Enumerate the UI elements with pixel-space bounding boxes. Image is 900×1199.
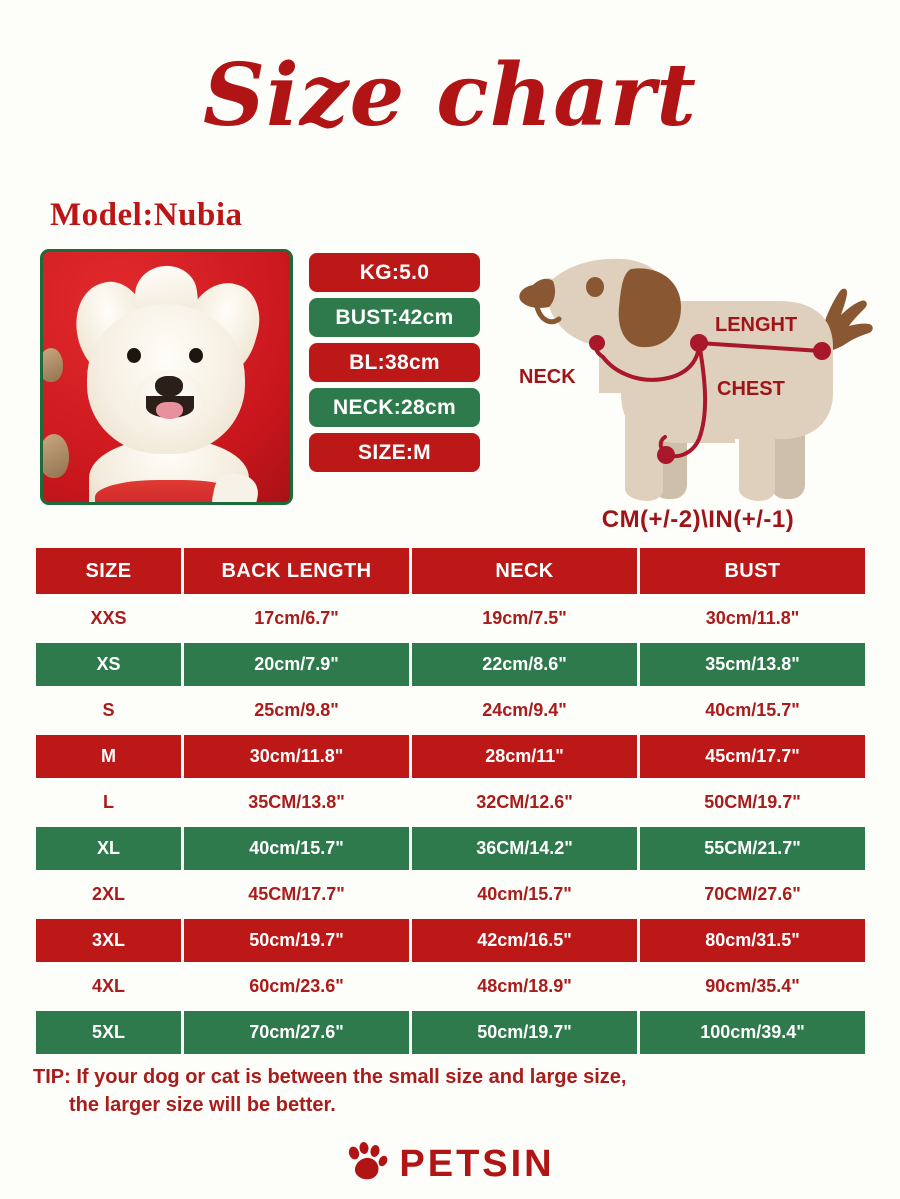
cell-bust: 50CM/19.7" [640, 781, 865, 824]
tip-note: TIP: If your dog or cat is between the s… [33, 1063, 833, 1119]
table-row: 4XL 60cm/23.6" 48cm/18.9" 90cm/35.4" [36, 965, 865, 1008]
cell-neck: 24cm/9.4" [412, 689, 637, 732]
cell-back-length: 70cm/27.6" [184, 1011, 409, 1054]
tip-line-2: the larger size will be better. [33, 1091, 833, 1119]
spec-badge-kg: KG:5.0 [309, 253, 480, 292]
cell-bust: 70CM/27.6" [640, 873, 865, 916]
tolerance-note: CM(+/-2)\IN(+/-1) [503, 506, 893, 534]
cell-size: XL [36, 827, 181, 870]
cell-neck: 50cm/19.7" [412, 1011, 637, 1054]
cell-neck: 28cm/11" [412, 735, 637, 778]
length-start-dot [690, 334, 708, 352]
cell-size: M [36, 735, 181, 778]
cell-neck: 32CM/12.6" [412, 781, 637, 824]
cell-neck: 22cm/8.6" [412, 643, 637, 686]
measurement-diagram: NECK LENGHT CHEST [503, 243, 893, 511]
cell-back-length: 35CM/13.8" [184, 781, 409, 824]
length-end-dot [813, 342, 831, 360]
tip-line-1: TIP: If your dog or cat is between the s… [33, 1066, 627, 1088]
table-row: 3XL 50cm/19.7" 42cm/16.5" 80cm/31.5" [36, 919, 865, 962]
cell-bust: 90cm/35.4" [640, 965, 865, 1008]
cell-back-length: 50cm/19.7" [184, 919, 409, 962]
cell-neck: 48cm/18.9" [412, 965, 637, 1008]
spec-badge-neck: NECK:28cm [309, 388, 480, 427]
column-header-back-length: BACK LENGTH [184, 548, 409, 594]
cell-size: S [36, 689, 181, 732]
cell-back-length: 40cm/15.7" [184, 827, 409, 870]
cell-bust: 55CM/21.7" [640, 827, 865, 870]
dog-eye-right [189, 348, 203, 363]
table-row: XS 20cm/7.9" 22cm/8.6" 35cm/13.8" [36, 643, 865, 686]
model-heading: Model:Nubia [50, 197, 243, 234]
cell-size: 2XL [36, 873, 181, 916]
chest-label: CHEST [717, 378, 785, 400]
cell-size: 3XL [36, 919, 181, 962]
neck-label: NECK [519, 366, 576, 388]
cell-size: L [36, 781, 181, 824]
length-label: LENGHT [715, 314, 797, 336]
cell-back-length: 17cm/6.7" [184, 597, 409, 640]
cell-back-length: 45CM/17.7" [184, 873, 409, 916]
spec-badge-bl: BL:38cm [309, 343, 480, 382]
table-row: 2XL 45CM/17.7" 40cm/15.7" 70CM/27.6" [36, 873, 865, 916]
cell-size: XXS [36, 597, 181, 640]
cell-bust: 35cm/13.8" [640, 643, 865, 686]
dog-eye-left [127, 348, 141, 363]
pine-cone-decor [40, 348, 63, 382]
cell-size: 4XL [36, 965, 181, 1008]
table-row: XL 40cm/15.7" 36CM/14.2" 55CM/21.7" [36, 827, 865, 870]
model-photo [40, 249, 293, 505]
dog-tongue [156, 402, 183, 419]
column-header-bust: BUST [640, 548, 865, 594]
cell-back-length: 20cm/7.9" [184, 643, 409, 686]
dog-nose [155, 376, 183, 397]
cell-neck: 36CM/14.2" [412, 827, 637, 870]
column-header-neck: NECK [412, 548, 637, 594]
cell-back-length: 60cm/23.6" [184, 965, 409, 1008]
cell-bust: 80cm/31.5" [640, 919, 865, 962]
cell-back-length: 30cm/11.8" [184, 735, 409, 778]
cell-bust: 40cm/15.7" [640, 689, 865, 732]
table-row: L 35CM/13.8" 32CM/12.6" 50CM/19.7" [36, 781, 865, 824]
size-table: SIZE BACK LENGTH NECK BUST XXS 17cm/6.7"… [36, 548, 865, 1057]
page-title: Size chart [0, 46, 900, 146]
paw-print-icon [345, 1142, 389, 1187]
cell-neck: 40cm/15.7" [412, 873, 637, 916]
cell-bust: 100cm/39.4" [640, 1011, 865, 1054]
cell-neck: 42cm/16.5" [412, 919, 637, 962]
table-row: XXS 17cm/6.7" 19cm/7.5" 30cm/11.8" [36, 597, 865, 640]
table-row: 5XL 70cm/27.6" 50cm/19.7" 100cm/39.4" [36, 1011, 865, 1054]
footer-logo: PETSIN [0, 1142, 900, 1187]
spec-badge-size: SIZE:M [309, 433, 480, 472]
cell-bust: 45cm/17.7" [640, 735, 865, 778]
spec-badge-bust: BUST:42cm [309, 298, 480, 337]
chest-endpoint-dot [657, 446, 675, 464]
cell-back-length: 25cm/9.8" [184, 689, 409, 732]
cell-bust: 30cm/11.8" [640, 597, 865, 640]
cell-neck: 19cm/7.5" [412, 597, 637, 640]
pine-cone-decor [40, 434, 69, 478]
model-spec-badge-list: KG:5.0 BUST:42cm BL:38cm NECK:28cm SIZE:… [309, 253, 480, 478]
cell-size: 5XL [36, 1011, 181, 1054]
column-header-size: SIZE [36, 548, 181, 594]
table-row: M 30cm/11.8" 28cm/11" 45cm/17.7" [36, 735, 865, 778]
cell-size: XS [36, 643, 181, 686]
table-row: S 25cm/9.8" 24cm/9.4" 40cm/15.7" [36, 689, 865, 732]
table-header-row: SIZE BACK LENGTH NECK BUST [36, 548, 865, 594]
neck-endpoint-dot [589, 335, 605, 351]
brand-name: PETSIN [399, 1143, 554, 1186]
